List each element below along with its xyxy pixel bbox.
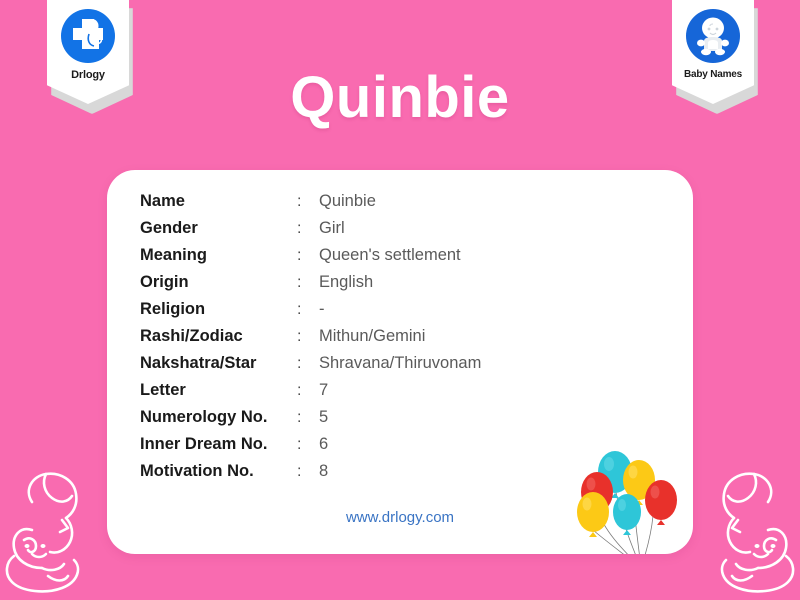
row-value: 5 [319, 408, 328, 427]
row-value: Quinbie [319, 192, 376, 211]
row-label: Motivation No. [140, 462, 297, 481]
baby-name-card-page: Drlogy Baby Name [0, 0, 800, 600]
table-row: Rashi/Zodiac : Mithun/Gemini [140, 327, 481, 354]
row-separator: : [297, 328, 319, 346]
row-label: Nakshatra/Star [140, 354, 297, 373]
row-value: Queen's settlement [319, 246, 461, 265]
row-value: Shravana/Thiruvonam [319, 354, 481, 373]
row-label: Letter [140, 381, 297, 400]
row-label: Religion [140, 300, 297, 319]
row-separator: : [297, 274, 319, 292]
table-row: Gender : Girl [140, 219, 481, 246]
row-value: 6 [319, 435, 328, 454]
balloons-icon [571, 446, 689, 554]
drlogy-badge-label: Drlogy [71, 69, 105, 81]
baby-names-badge-label: Baby Names [684, 69, 742, 80]
row-separator: : [297, 463, 319, 481]
table-row: Origin : English [140, 273, 481, 300]
table-row: Name : Quinbie [140, 192, 481, 219]
row-separator: : [297, 436, 319, 454]
table-row: Numerology No. : 5 [140, 408, 481, 435]
name-detail-card: Name : Quinbie Gender : Girl Meaning : Q… [107, 170, 693, 554]
baby-names-badge[interactable]: Baby Names [672, 0, 754, 104]
row-label: Meaning [140, 246, 297, 265]
badge-body: Drlogy [47, 0, 129, 104]
row-label: Rashi/Zodiac [140, 327, 297, 346]
row-separator: : [297, 220, 319, 238]
table-row: Letter : 7 [140, 381, 481, 408]
row-label: Origin [140, 273, 297, 292]
table-row: Nakshatra/Star : Shravana/Thiruvonam [140, 354, 481, 381]
name-detail-table: Name : Quinbie Gender : Girl Meaning : Q… [140, 192, 481, 489]
row-value: 8 [319, 462, 328, 481]
table-row: Inner Dream No. : 6 [140, 435, 481, 462]
row-label: Name [140, 192, 297, 211]
row-separator: : [297, 355, 319, 373]
row-label: Gender [140, 219, 297, 238]
row-value: Mithun/Gemini [319, 327, 425, 346]
table-row: Religion : - [140, 300, 481, 327]
website-url-link[interactable]: www.drlogy.com [107, 509, 693, 526]
drlogy-brand-badge[interactable]: Drlogy [47, 0, 129, 104]
row-value: Girl [319, 219, 345, 238]
doctor-medical-cross-icon [61, 9, 115, 63]
row-value: 7 [319, 381, 328, 400]
mother-and-baby-line-art-icon-right [693, 458, 798, 598]
table-row: Meaning : Queen's settlement [140, 246, 481, 273]
row-label: Numerology No. [140, 408, 297, 427]
row-separator: : [297, 382, 319, 400]
row-value: English [319, 273, 373, 292]
mother-and-baby-line-art-icon-left [2, 458, 107, 598]
row-separator: : [297, 193, 319, 211]
baby-icon [686, 9, 740, 63]
badge-body: Baby Names [672, 0, 754, 104]
row-separator: : [297, 409, 319, 427]
row-separator: : [297, 301, 319, 319]
table-row: Motivation No. : 8 [140, 462, 481, 489]
row-label: Inner Dream No. [140, 435, 297, 454]
row-separator: : [297, 247, 319, 265]
row-value: - [319, 300, 325, 319]
